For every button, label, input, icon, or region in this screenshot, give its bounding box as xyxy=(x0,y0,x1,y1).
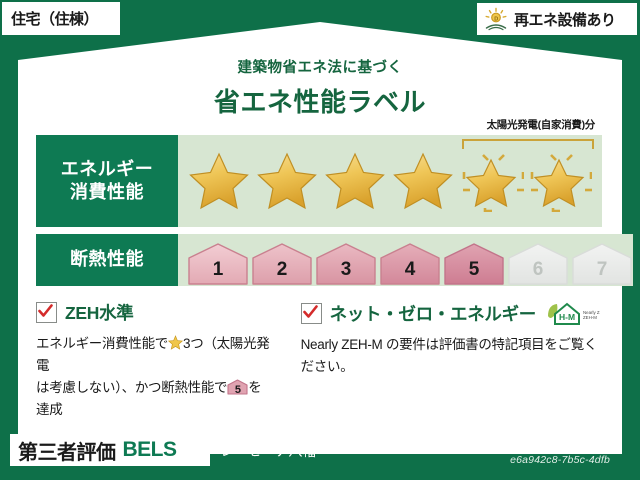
renewable-equipment-label: 再エネ設備あり xyxy=(514,9,616,30)
mini-star-icon xyxy=(168,335,183,350)
star-filled xyxy=(322,150,388,212)
zeh-standard-title: ZEH水準 xyxy=(65,300,134,325)
building-name: レ・セーナ八幡 xyxy=(220,441,316,461)
svg-text:H-M: H-M xyxy=(559,312,575,322)
check-icon xyxy=(301,303,322,324)
insulation-performance-row: 断熱性能 1 xyxy=(36,234,602,286)
sun-icon: D xyxy=(483,7,509,31)
solar-portion-bracket xyxy=(462,139,594,149)
grade-badge: 3 xyxy=(315,242,377,286)
grade-badge: 5 xyxy=(443,242,505,286)
zeh-standard-note: ZEH水準 エネルギー消費性能で3つ（太陽光発電は考慮しない）、かつ断熱性能で5… xyxy=(36,300,287,420)
notes-section: ZEH水準 エネルギー消費性能で3つ（太陽光発電は考慮しない）、かつ断熱性能で5… xyxy=(30,300,610,420)
grade-badge: 2 xyxy=(251,242,313,286)
energy-performance-row: エネルギー 消費性能 太陽光発電(自家消費)分 xyxy=(36,135,602,227)
dwelling-type-label: 住宅（住棟） xyxy=(11,8,98,29)
label-content: 建築物省エネ法に基づく 省エネ性能ラベル エネルギー 消費性能 太陽光発電(自家… xyxy=(30,52,610,422)
solar-portion-caption: 太陽光発電(自家消費)分 xyxy=(487,117,595,132)
insulation-grade-panel: 1 2 3 4 5 xyxy=(178,234,633,286)
svg-text:D: D xyxy=(494,16,498,22)
dwelling-type-tag: 住宅（住棟） xyxy=(2,2,120,35)
net-zero-energy-header: ネット・ゼロ・エネルギー H-M Nearly ZEH-M ZEH-M xyxy=(301,300,600,326)
energy-performance-label: エネルギー 消費性能 xyxy=(36,135,178,227)
check-icon xyxy=(36,302,57,323)
renewable-equipment-tag: D 再エネ設備あり xyxy=(477,3,637,35)
mini-grade-badge: 5 xyxy=(227,379,248,395)
grade-badge-inactive: 7 xyxy=(571,242,633,286)
svg-text:ZEH-M: ZEH-M xyxy=(583,315,597,320)
third-party-eval-label: 第三者評価 xyxy=(18,436,116,465)
insulation-grade-scale: 1 2 3 4 5 xyxy=(178,234,633,286)
zeh-standard-body: エネルギー消費性能で3つ（太陽光発電は考慮しない）、かつ断熱性能で5を達成 xyxy=(36,333,275,420)
energy-performance-stars-panel: 太陽光発電(自家消費)分 xyxy=(178,135,602,227)
star-solar-dashed xyxy=(458,150,524,212)
grade-badge: 1 xyxy=(187,242,249,286)
star-solar-dashed xyxy=(526,150,592,212)
zeh-standard-header: ZEH水準 xyxy=(36,300,275,325)
footer-bar: 第三者評価 BELS レ・セーナ八幡 評価日 2025年6月27日 e6a942… xyxy=(0,428,640,480)
insulation-performance-label: 断熱性能 xyxy=(36,234,178,286)
net-zero-energy-body: Nearly ZEH-M の要件は評価書の特記項目をご覧ください。 xyxy=(301,334,600,378)
label-title-block: 建築物省エネ法に基づく 省エネ性能ラベル xyxy=(30,56,610,119)
evaluation-id: e6a942c8-7b5c-4dfb xyxy=(510,454,610,466)
star-filled xyxy=(186,150,252,212)
page-title: 省エネ性能ラベル xyxy=(30,82,610,119)
zeh-m-logo-icon: H-M Nearly ZEH-M ZEH-M xyxy=(546,300,600,326)
label-subtitle: 建築物省エネ法に基づく xyxy=(30,56,610,77)
net-zero-energy-note: ネット・ゼロ・エネルギー H-M Nearly ZEH-M ZEH-M Near… xyxy=(287,300,604,420)
grade-badge: 4 xyxy=(379,242,441,286)
bels-certification-badge: 第三者評価 BELS xyxy=(10,434,210,466)
ratings-section: エネルギー 消費性能 太陽光発電(自家消費)分 xyxy=(30,135,610,286)
grade-badge-inactive: 6 xyxy=(507,242,569,286)
star-filled xyxy=(390,150,456,212)
evaluation-date: 評価日 2025年6月27日 xyxy=(480,434,618,454)
bels-label: BELS xyxy=(123,438,177,462)
star-filled xyxy=(254,150,320,212)
net-zero-energy-title: ネット・ゼロ・エネルギー xyxy=(330,301,536,326)
